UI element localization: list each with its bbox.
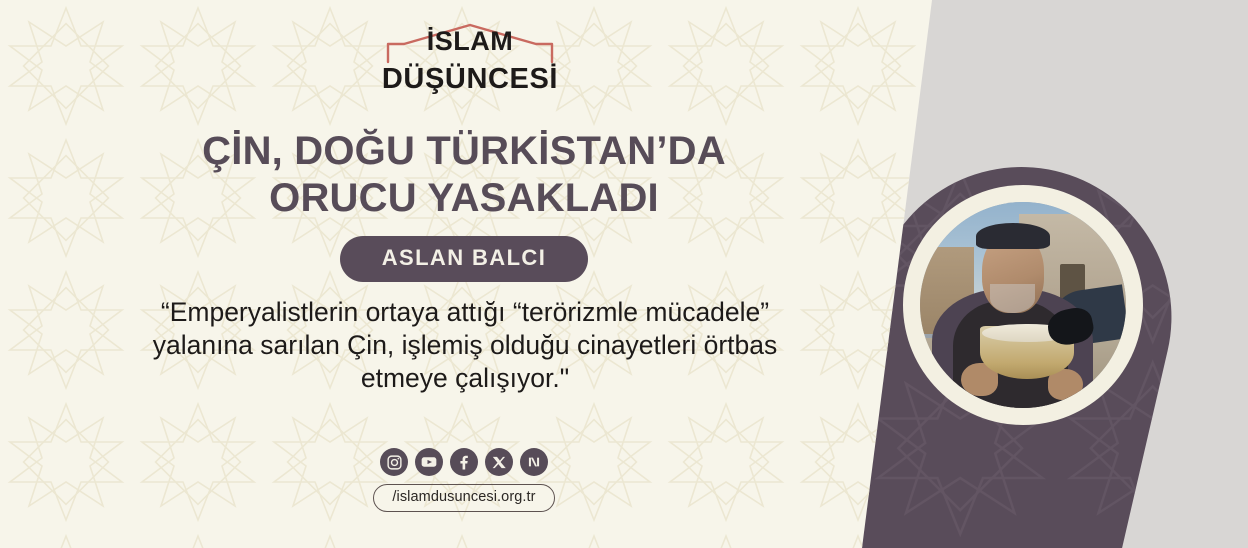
quote-block: “Emperyalistlerin ortaya attığı “teröriz… bbox=[0, 296, 930, 395]
quote-line-2: yalanına sarılan Çin, işlemiş olduğu cin… bbox=[0, 329, 930, 362]
news-n-icon[interactable] bbox=[520, 448, 548, 476]
headline-line-1: ÇİN, DOĞU TÜRKİSTAN’DA bbox=[202, 129, 726, 173]
social-links bbox=[0, 448, 928, 476]
brand-logo[interactable]: İSLAM DÜŞÜNCESİ bbox=[0, 22, 940, 96]
quote-line-3: etmeye çalışıyor." bbox=[0, 362, 930, 395]
author-row: ASLAN BALCI bbox=[0, 236, 928, 282]
portrait-photo bbox=[920, 202, 1126, 408]
author-badge[interactable]: ASLAN BALCI bbox=[340, 236, 589, 282]
website-url[interactable]: /islamdusuncesi.org.tr bbox=[373, 484, 554, 512]
instagram-icon[interactable] bbox=[380, 448, 408, 476]
x-twitter-icon[interactable] bbox=[485, 448, 513, 476]
logo-text-islam: İSLAM bbox=[384, 26, 556, 57]
facebook-icon[interactable] bbox=[450, 448, 478, 476]
headline-line-2: ORUCU YASAKLADI bbox=[0, 175, 928, 222]
quote-line-1: “Emperyalistlerin ortaya attığı “teröriz… bbox=[0, 296, 930, 329]
page-title: ÇİN, DOĞU TÜRKİSTAN’DA ORUCU YASAKLADI bbox=[0, 128, 928, 222]
website-row: /islamdusuncesi.org.tr bbox=[0, 484, 928, 512]
youtube-icon[interactable] bbox=[415, 448, 443, 476]
social-media-news-card: İSLAM DÜŞÜNCESİ ÇİN, DOĞU TÜRKİSTAN’DA O… bbox=[0, 0, 1248, 548]
photo-man-hat bbox=[976, 223, 1050, 250]
logo-top-row: İSLAM bbox=[384, 22, 556, 64]
logo-text-dusuncesi: DÜŞÜNCESİ bbox=[382, 63, 558, 96]
portrait-ring bbox=[903, 185, 1143, 425]
